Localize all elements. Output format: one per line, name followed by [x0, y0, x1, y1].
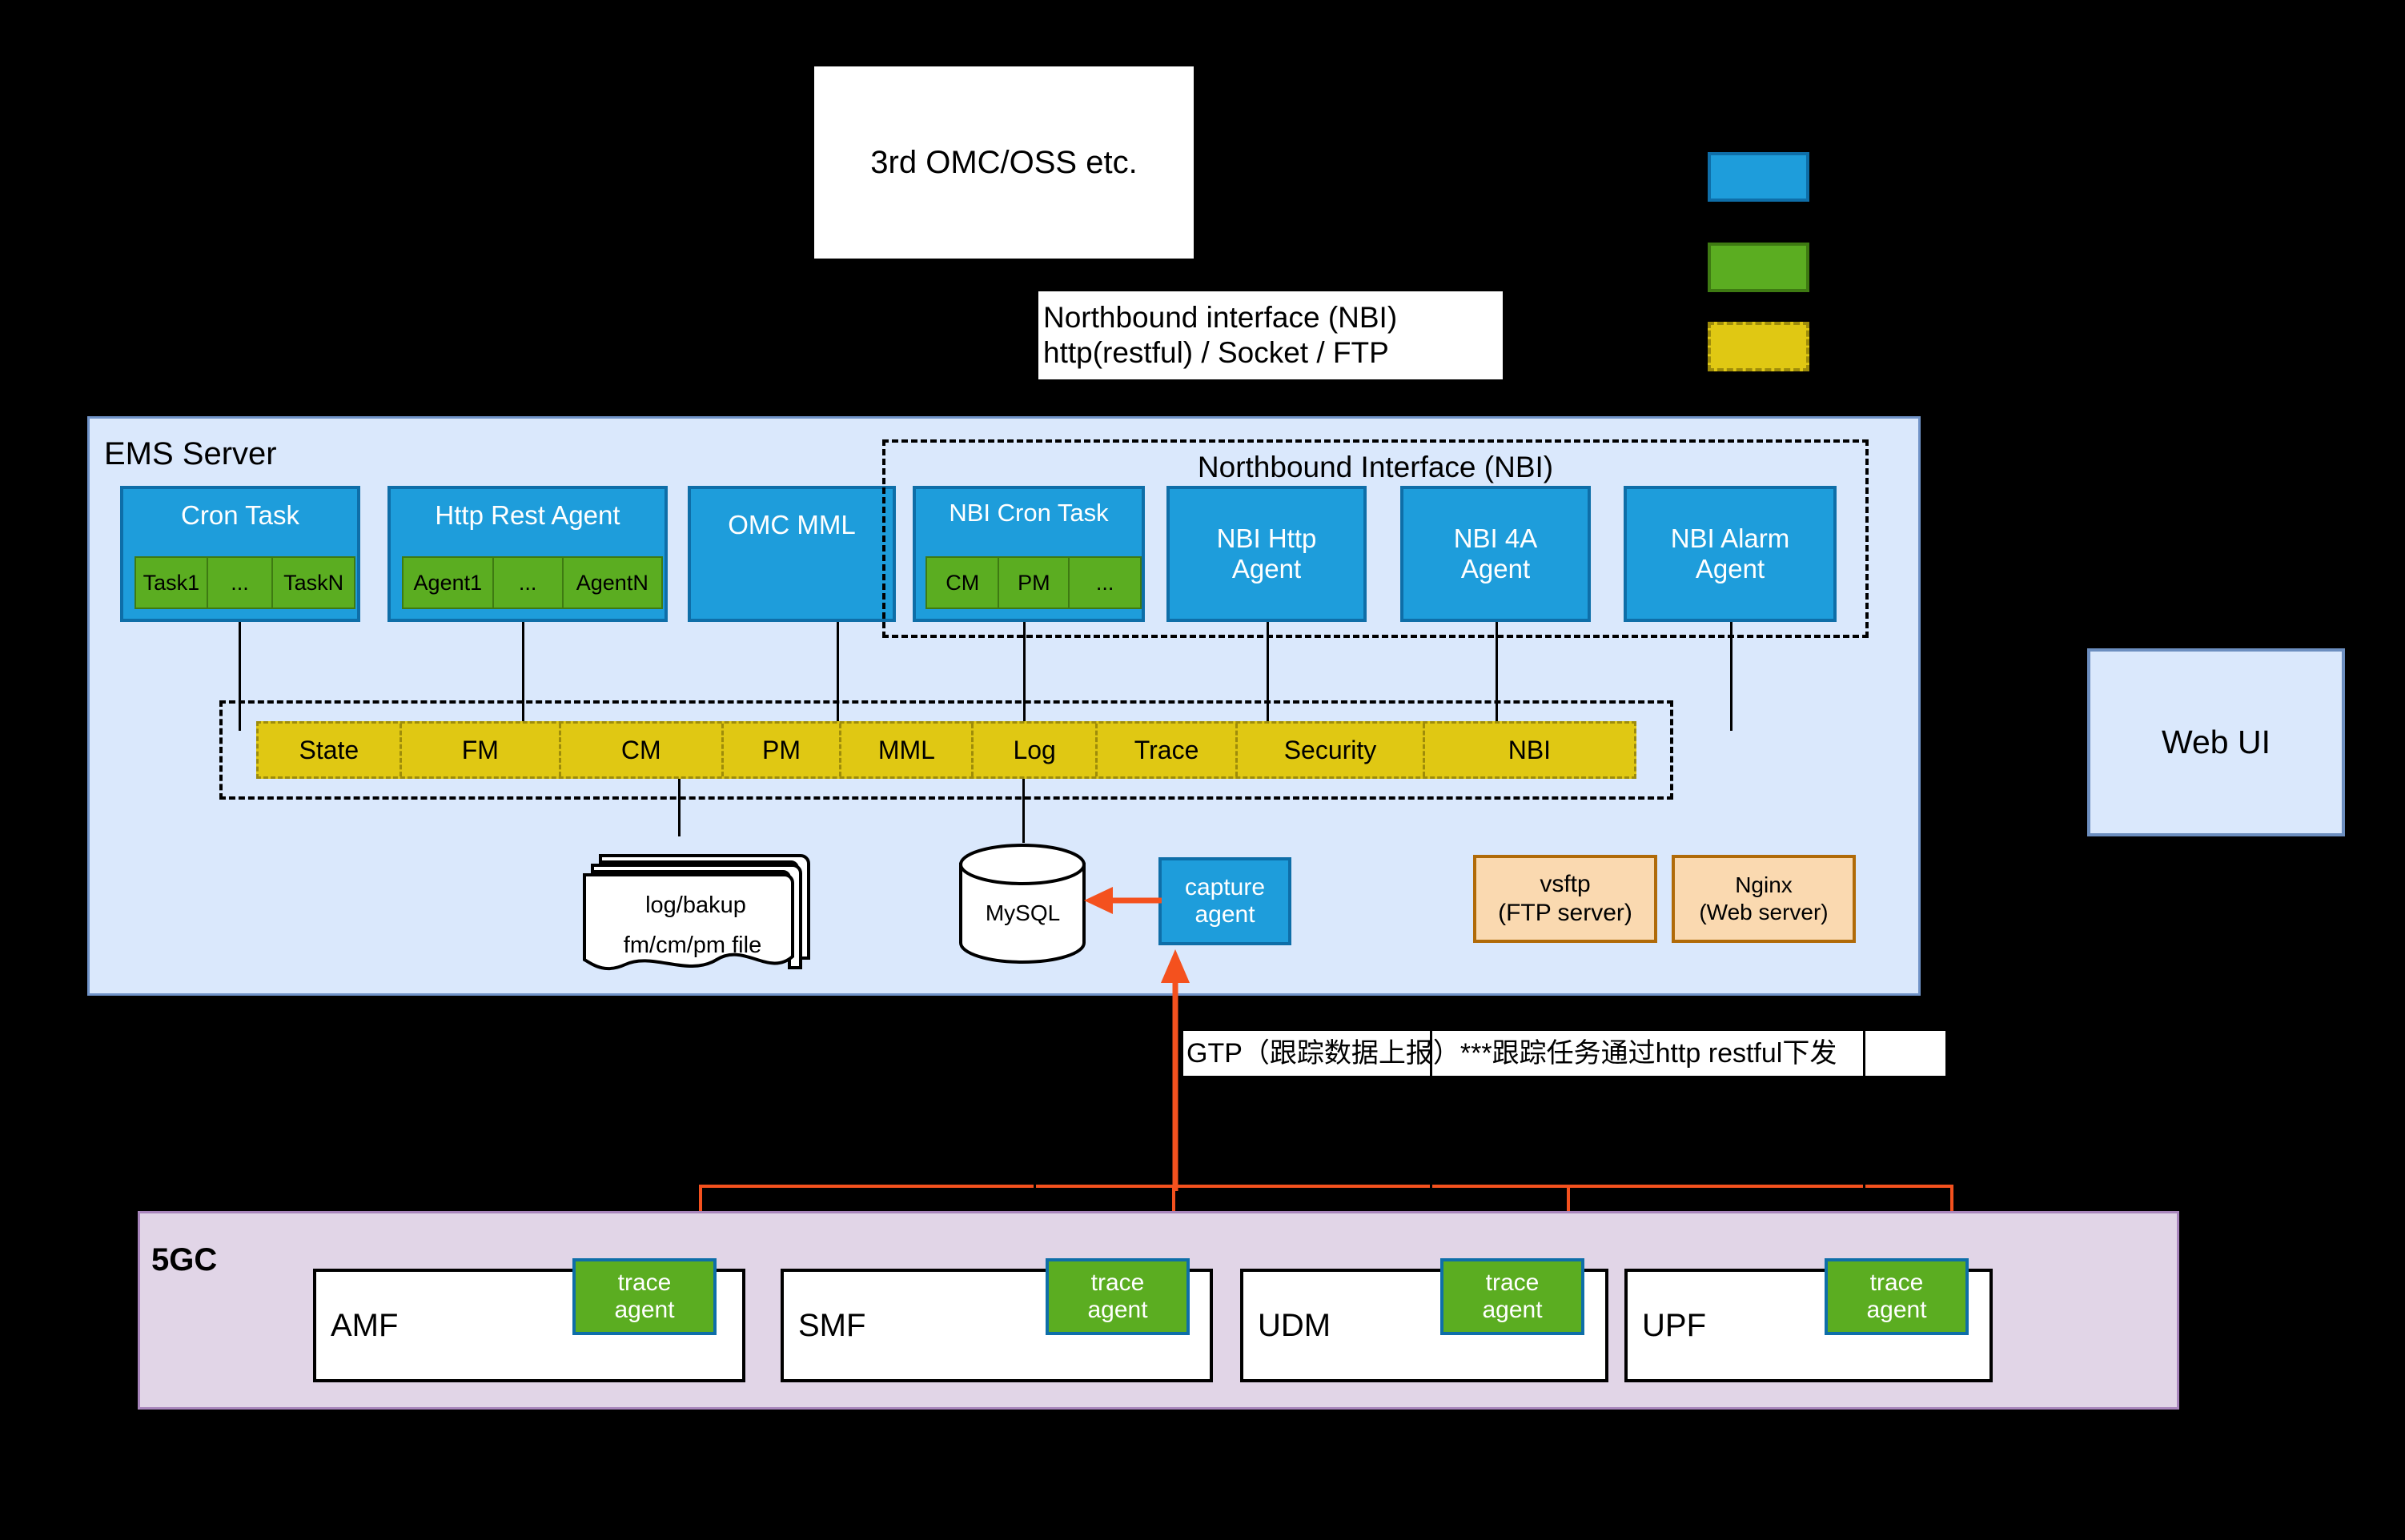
network-function-amf-label: AMF: [316, 1308, 398, 1344]
mysql-database: MySQL: [957, 843, 1089, 965]
legend-swatch-service-yellow: [1708, 322, 1809, 371]
http-rest-agent-cell[interactable]: Agent1: [404, 558, 494, 608]
trace-bus-horizontal: [699, 1185, 1953, 1188]
trace-agent-smf[interactable]: trace agent: [1046, 1258, 1190, 1335]
service-cell-mml[interactable]: MML: [841, 724, 974, 776]
ems-server-title: EMS Server: [104, 436, 277, 472]
component-http-rest-agent-label: Http Rest Agent: [391, 500, 664, 531]
third-party-omc-oss-label: 3rd OMC/OSS etc.: [870, 145, 1137, 181]
nbi-group-title: Northbound Interface (NBI): [885, 451, 1865, 484]
service-cell-fm[interactable]: FM: [402, 724, 561, 776]
capture-agent-box[interactable]: capture agent: [1158, 857, 1291, 945]
cron-task-cells: Task1 ... TaskN: [135, 556, 355, 609]
connector-services-to-file-stack: [678, 779, 681, 836]
mysql-label: MySQL: [957, 900, 1089, 926]
cron-task-cell[interactable]: Task1: [136, 558, 208, 608]
service-cell-trace[interactable]: Trace: [1098, 724, 1238, 776]
trace-agent-smf-line-2: agent: [1087, 1297, 1147, 1325]
component-nbi-4a-agent-label: NBI 4A Agent: [1403, 523, 1588, 584]
nbi-cron-task-cells: CM PM ...: [925, 556, 1142, 609]
component-nbi-4a-agent[interactable]: NBI 4A Agent: [1400, 486, 1591, 622]
component-nbi-cron-task-label: NBI Cron Task: [916, 499, 1142, 527]
service-cell-state[interactable]: State: [259, 724, 402, 776]
trace-agent-smf-line-1: trace: [1091, 1269, 1145, 1297]
server-nginx-line-1: Nginx: [1735, 872, 1793, 899]
server-vsftp-line-2: (FTP server): [1498, 899, 1632, 928]
component-nbi-http-agent[interactable]: NBI Http Agent: [1166, 486, 1367, 622]
service-cell-cm[interactable]: CM: [561, 724, 724, 776]
component-nbi-alarm-agent-label: NBI Alarm Agent: [1627, 523, 1833, 584]
component-nbi-cron-task[interactable]: NBI Cron Task CM PM ...: [913, 486, 1145, 622]
server-vsftp-line-1: vsftp: [1540, 870, 1590, 899]
network-function-smf-label: SMF: [784, 1308, 865, 1344]
component-cron-task-label: Cron Task: [123, 500, 357, 531]
connector-nbi-alarm-agent-to-services: [1730, 622, 1732, 731]
trace-agent-upf-line-1: trace: [1870, 1269, 1924, 1297]
cron-task-cell[interactable]: TaskN: [273, 558, 354, 608]
legend-swatch-component-blue: [1708, 152, 1809, 202]
capture-agent-label-line-2: agent: [1162, 901, 1288, 929]
component-omc-mml[interactable]: OMC MML: [688, 486, 896, 622]
cron-task-cell[interactable]: ...: [208, 558, 274, 608]
core-network-panel: 5GC AMF trace agent SMF trace agent UDM …: [138, 1211, 2179, 1410]
web-ui-box: Web UI: [2087, 648, 2345, 836]
connector-nbi-note-to-ems: [1002, 379, 1005, 416]
nbi-cron-task-cell[interactable]: CM: [927, 558, 999, 608]
service-cell-nbi[interactable]: NBI: [1425, 724, 1634, 776]
trace-agent-udm[interactable]: trace agent: [1440, 1258, 1584, 1335]
trace-agent-udm-line-1: trace: [1486, 1269, 1540, 1297]
nbi-note-line-1: Northbound interface (NBI): [1043, 300, 1397, 335]
service-cell-log[interactable]: Log: [974, 724, 1098, 776]
server-vsftp[interactable]: vsftp (FTP server): [1473, 855, 1657, 943]
component-nbi-http-agent-label: NBI Http Agent: [1170, 523, 1363, 584]
trace-agent-amf-line-2: agent: [614, 1297, 674, 1325]
trace-agent-amf-line-1: trace: [618, 1269, 672, 1297]
network-function-udm-label: UDM: [1243, 1308, 1331, 1344]
nbi-cron-task-cell[interactable]: PM: [999, 558, 1070, 608]
network-function-upf-label: UPF: [1628, 1308, 1706, 1344]
ems-server-panel: EMS Server Cron Task Task1 ... TaskN Htt…: [87, 416, 1921, 996]
file-stack-label-line-2: fm/cm/pm file: [600, 932, 785, 959]
service-cell-pm[interactable]: PM: [724, 724, 842, 776]
component-omc-mml-label: OMC MML: [691, 510, 893, 540]
connector-omc-to-nbi: [1002, 259, 1005, 293]
core-network-title: 5GC: [151, 1242, 217, 1278]
gtp-annotation: GTP（跟踪数据上报）***跟踪任务通过http restful下发: [1183, 1031, 1945, 1076]
nbi-protocol-note: Northbound interface (NBI) http(restful)…: [1038, 291, 1503, 379]
http-rest-agent-cell[interactable]: AgentN: [564, 558, 661, 608]
file-stack-label-line-1: log/bakup: [612, 892, 780, 919]
server-nginx-line-2: (Web server): [1699, 899, 1828, 926]
legend-swatch-subcomponent-green: [1708, 243, 1809, 292]
nbi-note-line-2: http(restful) / Socket / FTP: [1043, 335, 1389, 371]
component-nbi-alarm-agent[interactable]: NBI Alarm Agent: [1624, 486, 1837, 622]
trace-agent-upf-line-2: agent: [1866, 1297, 1926, 1325]
trace-agent-udm-line-2: agent: [1482, 1297, 1542, 1325]
trace-agent-upf[interactable]: trace agent: [1825, 1258, 1969, 1335]
service-cell-security[interactable]: Security: [1238, 724, 1425, 776]
file-storage-stack: log/bakup fm/cm/pm file: [578, 833, 842, 977]
capture-agent-label-line-1: capture: [1162, 874, 1288, 902]
web-ui-label: Web UI: [2162, 724, 2270, 761]
http-rest-agent-cell[interactable]: ...: [494, 558, 564, 608]
service-module-bar: State FM CM PM MML Log Trace Security NB…: [256, 721, 1636, 779]
nbi-cron-task-cell[interactable]: ...: [1070, 558, 1140, 608]
connector-services-to-mysql: [1022, 779, 1025, 843]
http-rest-agent-cells: Agent1 ... AgentN: [402, 556, 663, 609]
server-nginx[interactable]: Nginx (Web server): [1672, 855, 1856, 943]
gtp-annotation-label: GTP（跟踪数据上报）***跟踪任务通过http restful下发: [1186, 1037, 1837, 1069]
diagram-canvas: 3rd OMC/OSS etc. Northbound interface (N…: [0, 0, 2405, 1540]
component-http-rest-agent[interactable]: Http Rest Agent Agent1 ... AgentN: [387, 486, 668, 622]
arrow-capture-agent-to-mysql: [1079, 884, 1163, 916]
component-cron-task[interactable]: Cron Task Task1 ... TaskN: [120, 486, 360, 622]
third-party-omc-oss-box: 3rd OMC/OSS etc.: [813, 66, 1194, 259]
trace-agent-amf[interactable]: trace agent: [572, 1258, 717, 1335]
